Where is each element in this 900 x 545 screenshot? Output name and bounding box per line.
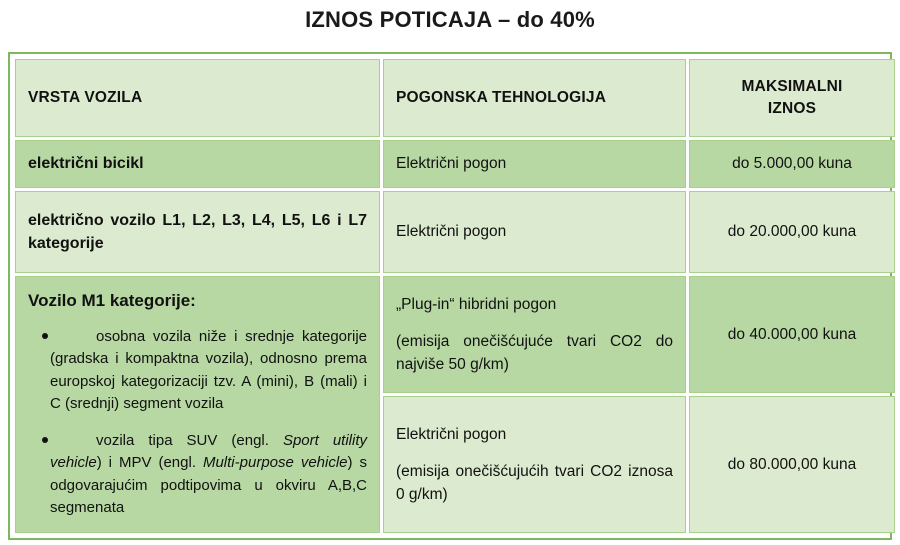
row-m1-ev-drive-technology: Električni pogon (emisija onečišćujućih … <box>383 396 686 533</box>
bullet-dot-icon <box>42 333 48 339</box>
header-max-amount: MAKSIMALNI IZNOS <box>689 59 895 137</box>
page-root: IZNOS POTICAJA – do 40% VRSTA VOZILA POG… <box>0 0 900 545</box>
row-ebike-vehicle-type: električni bicikl <box>15 140 380 188</box>
table-row: Vozilo M1 kategorije: osobna vozila niže… <box>15 276 895 393</box>
list-item: vozila tipa SUV (engl. Sport utility veh… <box>28 430 367 520</box>
ev-tech-line1: Električni pogon <box>396 423 673 446</box>
row-ebike-max-amount: do 5.000,00 kuna <box>689 140 895 188</box>
row-m1-phev-max-amount: do 40.000,00 kuna <box>689 276 895 393</box>
m1-bullet-1-text: osobna vozila niže i srednje kategorije … <box>50 328 367 413</box>
bullet-dot-icon <box>42 437 48 443</box>
row-ebike-drive-technology: Električni pogon <box>383 140 686 188</box>
m1-bullet-2-text: vozila tipa SUV (engl. Sport utility veh… <box>50 432 367 517</box>
ev-tech-line2: (emisija onečišćujućih tvari CO2 iznosa … <box>396 460 673 507</box>
incentives-table: VRSTA VOZILA POGONSKA TEHNOLOGIJA MAKSIM… <box>12 56 898 536</box>
table-row: električni bicikl Električni pogon do 5.… <box>15 140 895 188</box>
row-m1-phev-drive-technology: „Plug-in“ hibridni pogon (emisija onečiš… <box>383 276 686 393</box>
header-max-amount-line1: MAKSIMALNI <box>702 76 882 98</box>
phev-tech-line2: (emisija onečišćujuće tvari CO2 do najvi… <box>396 330 673 377</box>
row-m1-ev-max-amount: do 80.000,00 kuna <box>689 396 895 533</box>
phev-tech-line1: „Plug-in“ hibridni pogon <box>396 293 673 316</box>
row-m1-vehicle-type: Vozilo M1 kategorije: osobna vozila niže… <box>15 276 380 533</box>
table-header-row: VRSTA VOZILA POGONSKA TEHNOLOGIJA MAKSIM… <box>15 59 895 137</box>
list-item: osobna vozila niže i srednje kategorije … <box>28 326 367 416</box>
row-l1l7-drive-technology: Električni pogon <box>383 191 686 273</box>
table-row: električno vozilo L1, L2, L3, L4, L5, L6… <box>15 191 895 273</box>
m1-bullet-list: osobna vozila niže i srednje kategorije … <box>28 326 367 520</box>
header-max-amount-line2: IZNOS <box>702 98 882 120</box>
m1-title: Vozilo M1 kategorije: <box>28 289 367 314</box>
row-l1l7-max-amount: do 20.000,00 kuna <box>689 191 895 273</box>
page-title: IZNOS POTICAJA – do 40% <box>0 0 900 42</box>
row-l1l7-vehicle-type: električno vozilo L1, L2, L3, L4, L5, L6… <box>15 191 380 273</box>
header-drive-technology: POGONSKA TEHNOLOGIJA <box>383 59 686 137</box>
incentives-table-container: VRSTA VOZILA POGONSKA TEHNOLOGIJA MAKSIM… <box>8 52 892 540</box>
header-vehicle-type: VRSTA VOZILA <box>15 59 380 137</box>
